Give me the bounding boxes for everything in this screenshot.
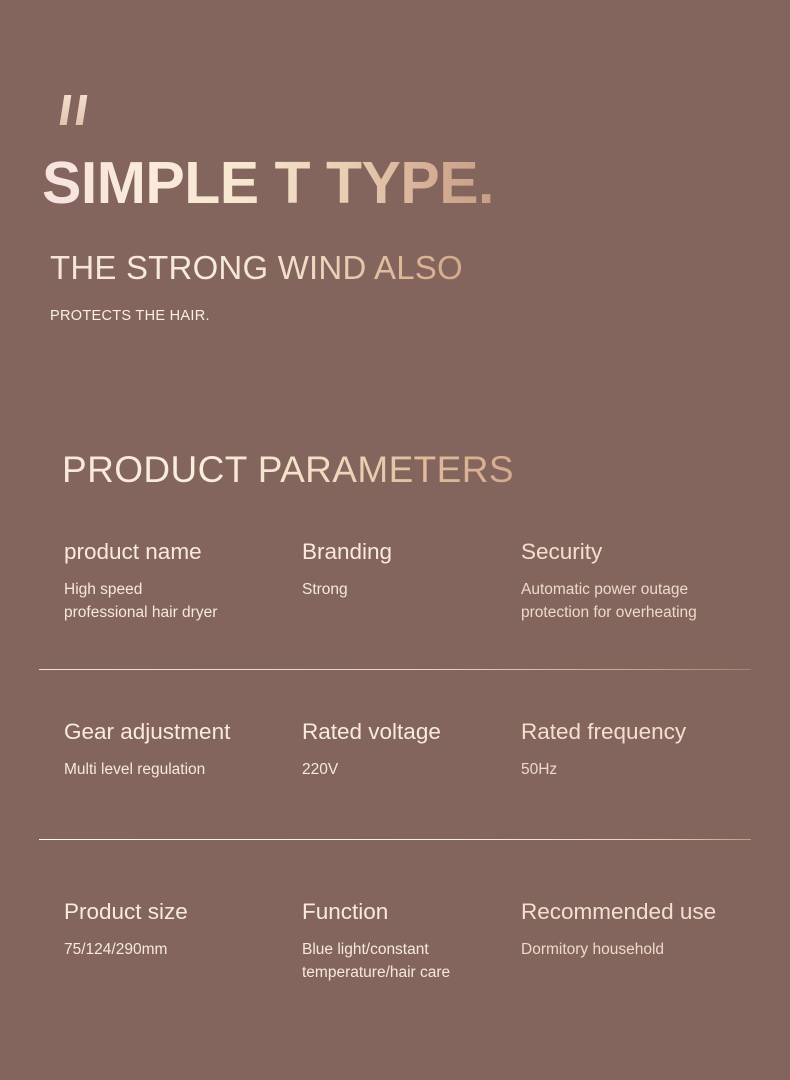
hero-title: SIMPLE T TYPE. — [42, 154, 494, 213]
spec-row-divider — [39, 669, 751, 670]
spec-row: Gear adjustment Multi level regulation R… — [0, 720, 790, 900]
spec-value: Multi level regulation — [64, 758, 294, 781]
section-heading-product-parameters: PRODUCT PARAMETERS — [62, 451, 514, 488]
spec-value: Dormitory household — [521, 938, 766, 961]
spec-label: Gear adjustment — [64, 720, 294, 745]
spec-label: product name — [64, 540, 294, 565]
spec-label: Product size — [64, 900, 294, 925]
spec-cell: Gear adjustment Multi level regulation — [64, 720, 294, 781]
spec-cell: product name High speed professional hai… — [64, 540, 294, 624]
spec-value: Automatic power outage protection for ov… — [521, 578, 766, 625]
spec-value: 50Hz — [521, 758, 766, 781]
quote-mark-icon — [59, 95, 99, 129]
spec-cell: Rated frequency 50Hz — [521, 720, 766, 781]
spec-row-divider — [39, 839, 751, 840]
spec-cell: Recommended use Dormitory household — [521, 900, 766, 961]
spec-cell: Product size 75/124/290mm — [64, 900, 294, 961]
hero-subtitle: THE STRONG WIND ALSO — [50, 251, 463, 284]
spec-table: product name High speed professional hai… — [0, 540, 790, 1080]
hero-tagline: PROTECTS THE HAIR. — [50, 309, 210, 324]
spec-label: Rated frequency — [521, 720, 766, 745]
quote-mark-bar-left — [60, 95, 72, 125]
spec-cell: Branding Strong — [302, 540, 517, 601]
spec-label: Branding — [302, 540, 517, 565]
spec-label: Function — [302, 900, 517, 925]
spec-value: 220V — [302, 758, 517, 781]
quote-mark-bar-right — [76, 95, 88, 125]
spec-value: Blue light/constant temperature/hair car… — [302, 938, 517, 985]
spec-label: Recommended use — [521, 900, 766, 925]
spec-value: Strong — [302, 578, 517, 601]
spec-cell: Rated voltage 220V — [302, 720, 517, 781]
spec-label: Security — [521, 540, 766, 565]
spec-cell: Function Blue light/constant temperature… — [302, 900, 517, 984]
spec-row: Product size 75/124/290mm Function Blue … — [0, 900, 790, 1080]
spec-cell: Security Automatic power outage protecti… — [521, 540, 766, 624]
spec-row: product name High speed professional hai… — [0, 540, 790, 720]
spec-value: 75/124/290mm — [64, 938, 294, 961]
spec-value: High speed professional hair dryer — [64, 578, 294, 625]
spec-label: Rated voltage — [302, 720, 517, 745]
